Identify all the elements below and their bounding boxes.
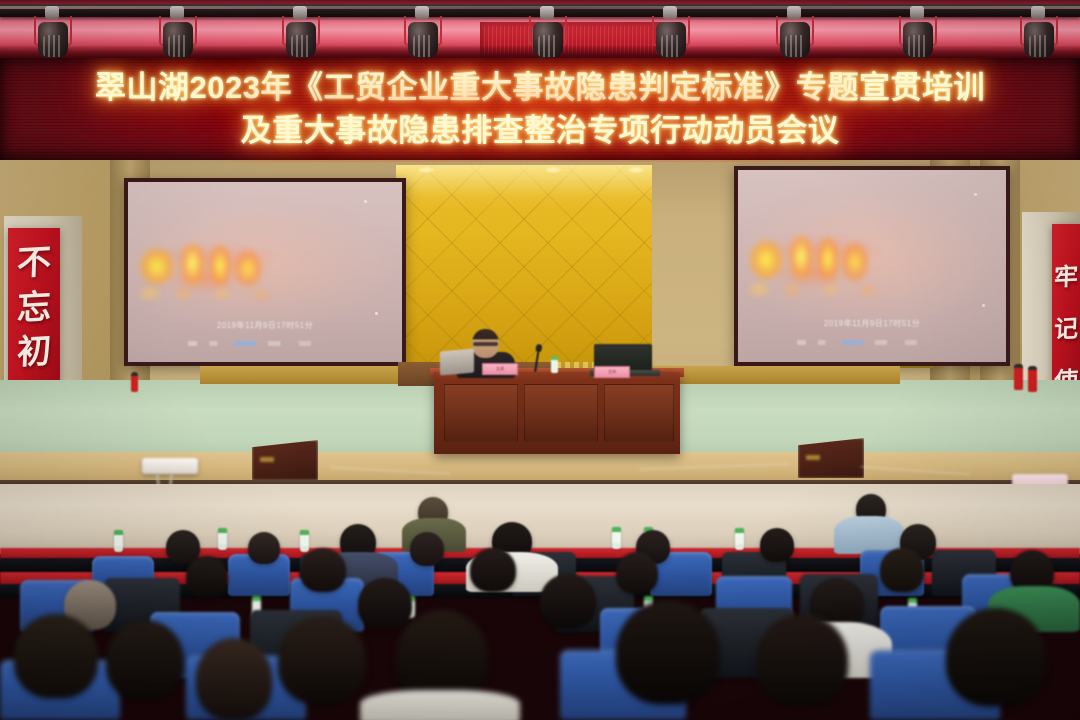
desk-panel — [604, 384, 674, 442]
fire-extinguisher-icon — [1014, 364, 1023, 390]
audience-head — [470, 548, 516, 592]
banner-title-line-2: 及重大事故隐患排查整治专项行动动员会议 — [241, 110, 840, 153]
stage-light-icon — [1016, 8, 1062, 60]
audience-shoulders — [834, 516, 904, 554]
audience-head — [186, 556, 228, 598]
stage-light-icon — [648, 8, 694, 60]
name-placard-left: 主讲 — [482, 363, 518, 375]
pillar-char-2: 忘 — [16, 291, 51, 327]
audience-head — [540, 574, 596, 628]
led-title-banner: 翠山湖2023年《工贸企业重大事故隐患判定标准》专题宣贯培训 及重大事故隐患排查… — [0, 58, 1080, 162]
stage-light-icon — [895, 8, 941, 60]
audience-head — [616, 552, 658, 594]
desk-panel — [524, 384, 598, 442]
water-bottle-icon — [300, 530, 309, 552]
pillar-char-3: 初 — [16, 336, 51, 372]
audience-head — [358, 578, 412, 630]
audience-head — [196, 638, 272, 720]
water-bottle-icon — [735, 528, 744, 550]
water-bottle-icon — [612, 527, 621, 549]
placard-text: 主持 — [595, 367, 629, 377]
stage-light-icon — [30, 8, 76, 60]
video-timestamp-right: 2019年11月9日17时51分 — [738, 318, 1006, 329]
water-bottle-icon — [114, 530, 123, 552]
water-bottle-icon — [551, 356, 558, 373]
audience-shoulders — [360, 690, 520, 720]
audience-head — [880, 548, 924, 592]
presenter-laptop — [440, 349, 474, 376]
audience-head — [946, 608, 1046, 706]
stage-light-icon — [278, 8, 324, 60]
video-timestamp-left: 2019年11月9日17时51分 — [128, 320, 402, 331]
projection-screen-right: 2019年11月9日17时51分 — [734, 166, 1010, 366]
projection-screen-left: 2019年11月9日17时51分 — [124, 178, 406, 366]
audience-head — [410, 532, 444, 566]
audience-head — [760, 528, 794, 562]
fire-extinguisher-icon — [1028, 366, 1037, 392]
video-progress-bar-right — [797, 340, 947, 345]
presenter-glasses-icon — [473, 342, 498, 346]
water-bottle-icon — [218, 528, 227, 550]
conference-hall-photo: 翠山湖2023年《工贸企业重大事故隐患判定标准》专题宣贯培训 及重大事故隐患排查… — [0, 0, 1080, 720]
pillar-char-2: 记 — [1054, 317, 1079, 342]
desk-panel — [444, 384, 518, 442]
backdrop-spotlight-icon — [628, 167, 644, 173]
backdrop-spotlight-icon — [418, 167, 434, 173]
stage-light-icon — [400, 8, 446, 60]
audience-head — [248, 532, 280, 564]
stage-light-icon — [525, 8, 571, 60]
pillar-char-1: 牢 — [1054, 265, 1079, 290]
banner-title-line-1: 翠山湖2023年《工贸企业重大事故隐患判定标准》专题宣贯培训 — [95, 67, 985, 110]
name-placard-right: 主持 — [594, 366, 630, 378]
audience-head — [106, 620, 184, 700]
backdrop-spotlight-icon — [545, 167, 561, 173]
backdrop-uplight-glow — [396, 165, 652, 211]
audience-head — [756, 614, 848, 706]
video-progress-bar-left — [188, 341, 341, 346]
pillar-char-1: 不 — [16, 246, 51, 282]
audience-head — [300, 548, 346, 592]
stage-light-icon — [772, 8, 818, 60]
projector-left — [142, 458, 198, 474]
stage-light-icon — [155, 8, 201, 60]
fire-extinguisher-icon — [131, 372, 138, 392]
placard-text: 主讲 — [483, 364, 517, 374]
audience-head — [14, 614, 98, 698]
audience-head — [616, 600, 720, 704]
audience-head — [278, 616, 366, 704]
